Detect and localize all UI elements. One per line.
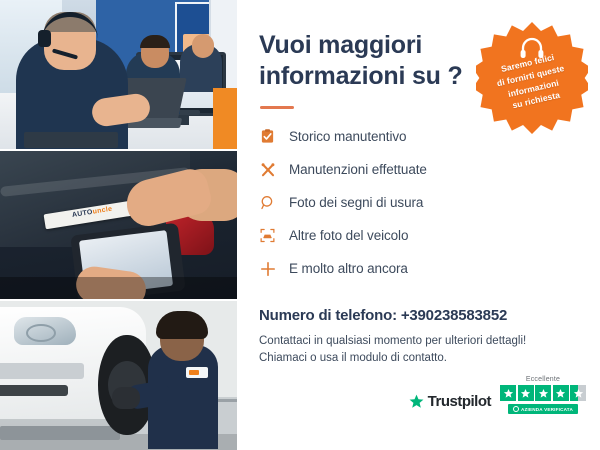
list-item: Altre foto del veicolo xyxy=(259,222,578,250)
trustpilot-star-icon xyxy=(409,394,424,409)
feature-label: Storico manutentivo xyxy=(289,129,406,144)
list-item: Foto dei segni di usura xyxy=(259,189,578,217)
star-filled xyxy=(518,385,534,401)
mechanic-glove xyxy=(112,387,140,409)
list-item: E molto altro ancora xyxy=(259,255,578,283)
feature-label: Manutenzioni effettuate xyxy=(289,162,427,177)
trustpilot-brand-name: Trustpilot xyxy=(428,393,491,410)
mechanic-wheel-photo xyxy=(0,301,237,450)
phone-number: Numero di telefono: +390238583852 xyxy=(259,307,578,324)
clipboard-check-icon xyxy=(259,128,276,145)
verified-label: AZIENDA VERIFICATA xyxy=(521,407,573,412)
mechanic-hair xyxy=(156,311,208,339)
star-filled xyxy=(500,385,516,401)
advertisement-banner: AUTOuncle xyxy=(0,0,600,450)
keyboard xyxy=(24,132,118,148)
car-grille-upper xyxy=(0,363,84,379)
orange-vest xyxy=(213,88,237,149)
vehicle-inspection-photo: AUTOuncle xyxy=(0,151,237,300)
trustpilot-widget[interactable]: Trustpilot Eccellente xyxy=(409,376,586,414)
tablet-text-line xyxy=(87,252,149,263)
trustpilot-logo: Trustpilot xyxy=(409,393,491,414)
car-scan-icon xyxy=(259,227,276,244)
feature-label: Foto dei segni di usura xyxy=(289,195,423,210)
tablet-text-line xyxy=(86,245,140,255)
content-panel: Vuoi maggiori informazioni su ? Saremo f… xyxy=(237,0,600,450)
car-lift-arm xyxy=(0,426,120,440)
feature-label: Altre foto del veicolo xyxy=(289,228,408,243)
promo-badge: Saremo felici di fornirti queste informa… xyxy=(476,22,588,134)
car-headlight xyxy=(14,317,76,345)
star-filled xyxy=(553,385,569,401)
star-filled xyxy=(535,385,551,401)
photo-shadow xyxy=(0,277,237,299)
uniform-logo xyxy=(186,367,208,378)
contact-text: Contattaci in qualsiasi momento per ulte… xyxy=(259,333,578,369)
magnifier-icon xyxy=(259,194,276,211)
trustpilot-rating: Eccellente xyxy=(500,376,586,414)
verified-check-icon xyxy=(513,406,519,412)
title-divider xyxy=(260,106,294,109)
contact-line-2: Chiamaci o usa il modulo di contatto. xyxy=(259,350,578,368)
tools-cross-icon xyxy=(259,161,276,178)
star-half xyxy=(570,385,586,401)
rating-label: Eccellente xyxy=(526,376,560,383)
contact-line-1: Contattaci in qualsiasi momento per ulte… xyxy=(259,333,578,351)
feature-label: E molto altro ancora xyxy=(289,261,408,276)
photo-column: AUTOuncle xyxy=(0,0,237,450)
star-rating xyxy=(500,385,586,401)
call-centre-agent-photo xyxy=(0,0,237,149)
list-item: Manutenzioni effettuate xyxy=(259,156,578,184)
car-grille-lower xyxy=(0,385,68,396)
colleague-back-head xyxy=(192,34,214,58)
verified-company-badge: AZIENDA VERIFICATA xyxy=(508,404,578,414)
headline-line-1: Vuoi maggiori xyxy=(259,31,422,59)
headline-line-2: informazioni su ? xyxy=(259,62,463,90)
headset-earcup xyxy=(38,30,51,47)
page-title: Vuoi maggiori informazioni su ? xyxy=(259,30,474,93)
feature-list: Storico manutentivo Manutenzioni effettu… xyxy=(259,123,578,283)
plus-icon xyxy=(259,260,276,277)
